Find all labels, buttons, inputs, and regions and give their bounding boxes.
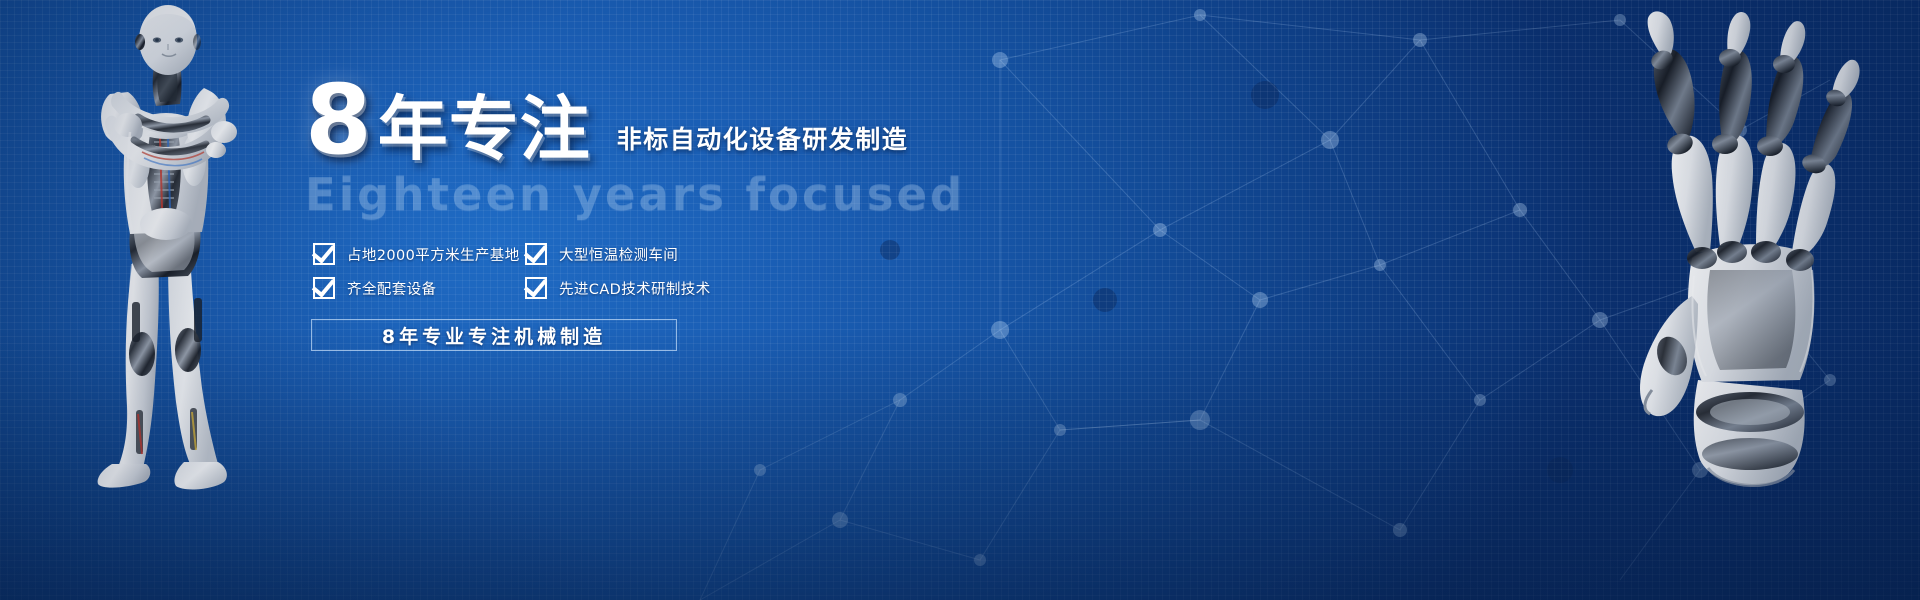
promo-banner: 8 年专注 非标自动化设备研发制造 Eighteen years focused… xyxy=(0,0,1920,600)
headline-number: 8 xyxy=(305,78,370,162)
feature-label: 大型恒温检测车间 xyxy=(559,244,678,265)
humanoid-robot-image xyxy=(72,2,262,494)
feature-item: 大型恒温检测车间 xyxy=(525,243,813,265)
feature-item: 齐全配套设备 xyxy=(313,277,525,299)
check-icon xyxy=(525,277,547,299)
headline-ghost-english: Eighteen years focused xyxy=(305,168,1005,221)
feature-label: 齐全配套设备 xyxy=(347,278,436,299)
check-icon xyxy=(313,277,335,299)
check-icon xyxy=(313,243,335,265)
headline-chinese: 年专注 xyxy=(378,96,591,163)
feature-item: 先进CAD技术研制技术 xyxy=(525,277,813,299)
feature-label: 占地2000平方米生产基地 xyxy=(347,244,520,265)
robotic-hand-image xyxy=(1580,8,1910,498)
banner-content: 8 年专注 非标自动化设备研发制造 Eighteen years focused… xyxy=(305,70,1005,351)
headline-row: 8 年专注 非标自动化设备研发制造 xyxy=(305,70,1005,162)
tagline-label: 8年专业专注机械制造 xyxy=(382,322,606,349)
headline-subtitle: 非标自动化设备研发制造 xyxy=(617,120,909,156)
feature-item: 占地2000平方米生产基地 xyxy=(313,243,525,265)
feature-label: 先进CAD技术研制技术 xyxy=(559,278,711,299)
feature-list: 占地2000平方米生产基地 大型恒温检测车间 齐全配套设备 先进CAD技术研制技… xyxy=(313,243,813,299)
check-icon xyxy=(525,243,547,265)
tagline-box: 8年专业专注机械制造 xyxy=(311,319,677,351)
